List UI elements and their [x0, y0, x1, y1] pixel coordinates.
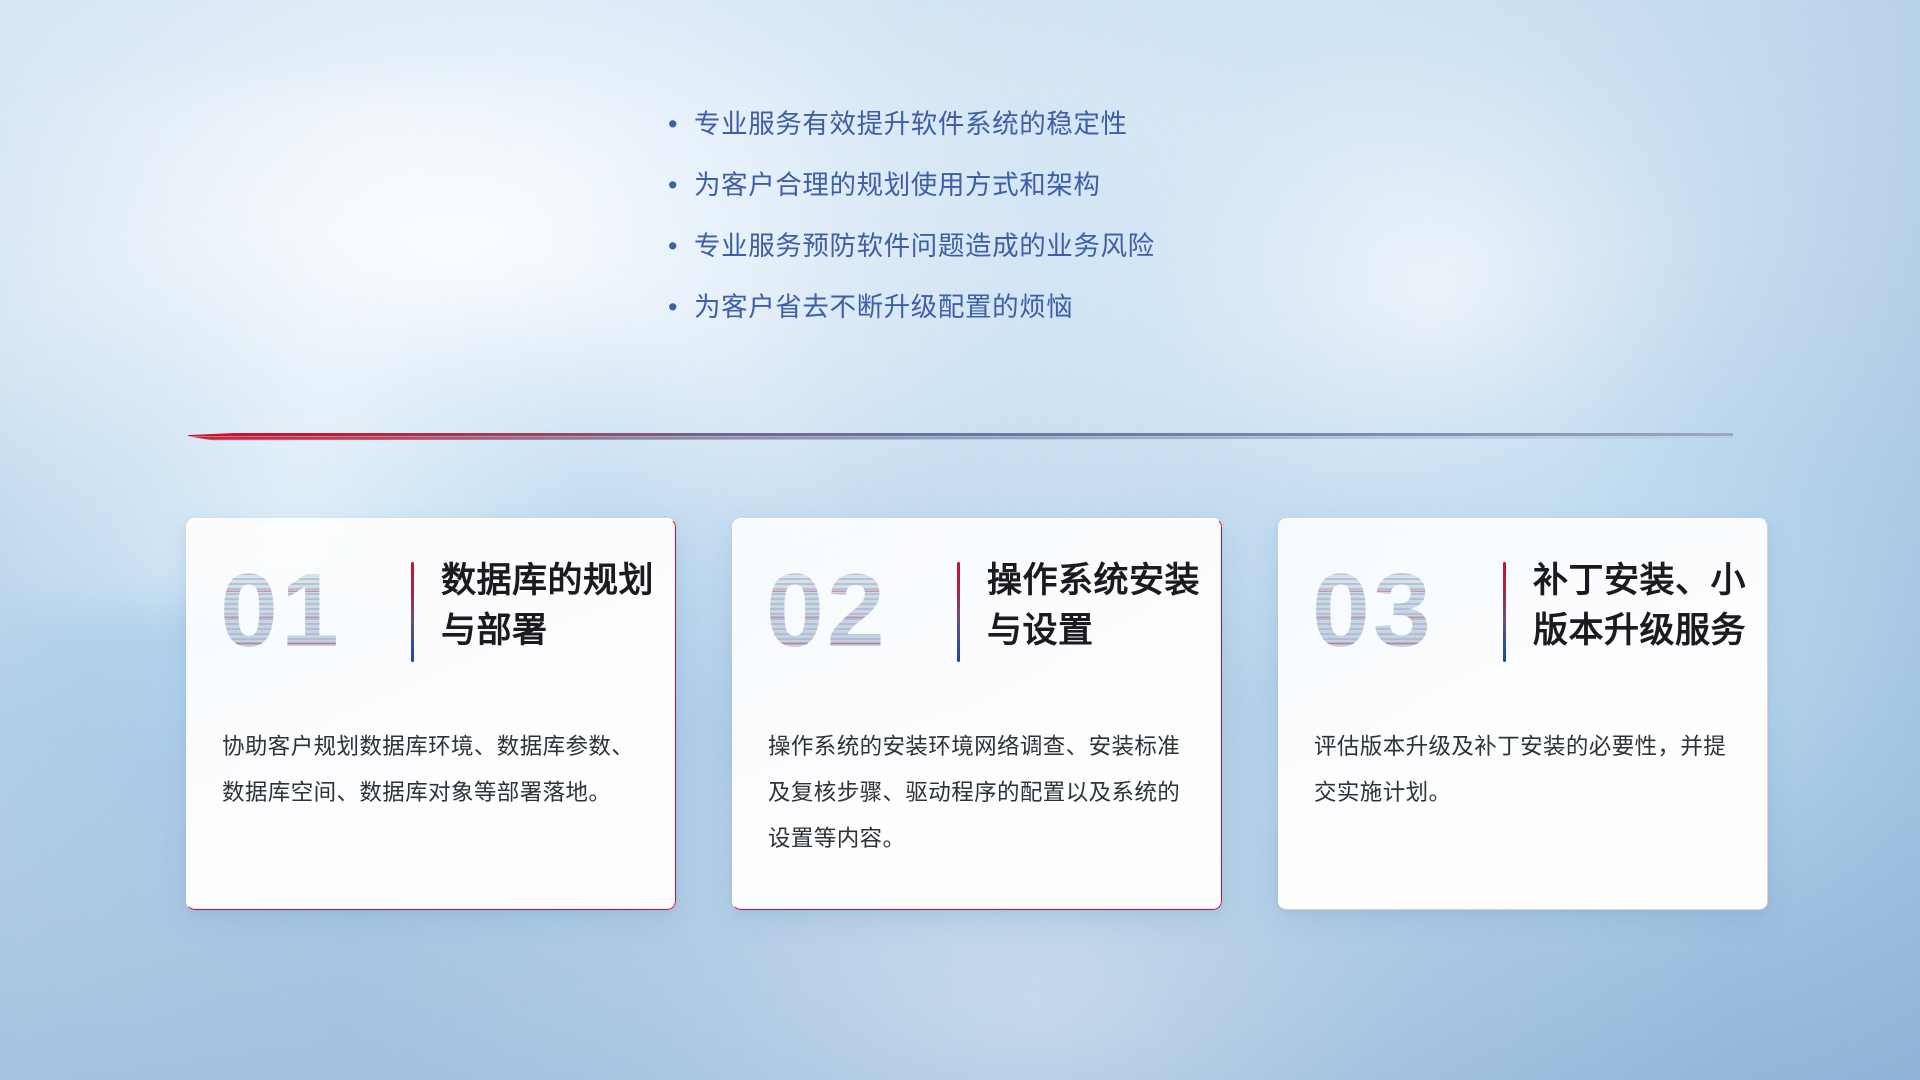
card-number-watermark: 02	[766, 552, 936, 670]
bullet-dot-icon: •	[668, 287, 694, 327]
card-description: 操作系统的安装环境网络调查、安装标准及复核步骤、驱动程序的配置以及系统的设置等内…	[768, 724, 1188, 862]
card-header: 02 02 操作系统安装与设置	[732, 518, 1222, 714]
list-item: • 专业服务预防软件问题造成的业务风险	[668, 226, 1428, 266]
list-item: • 专业服务有效提升软件系统的稳定性	[668, 104, 1428, 144]
divider-line-shadow	[188, 436, 1733, 440]
card-title: 数据库的规划与部署	[441, 556, 654, 656]
card-number-watermark: 01	[220, 552, 390, 670]
card-title: 补丁安装、小版本升级服务	[1533, 556, 1746, 656]
bullet-text: 为客户省去不断升级配置的烦恼	[694, 287, 1073, 327]
bullet-text: 专业服务有效提升软件系统的稳定性	[694, 104, 1128, 144]
card-number-watermark: 03	[1312, 552, 1482, 670]
bullet-dot-icon: •	[668, 165, 694, 205]
card-accent-bar	[1503, 562, 1506, 662]
card-accent-bar	[957, 562, 960, 662]
card-header: 03 03 补丁安装、小版本升级服务	[1278, 518, 1768, 714]
card-header: 01 01 数据库的规划与部署	[186, 518, 676, 714]
section-divider	[188, 430, 1733, 446]
bullet-dot-icon: •	[668, 226, 694, 266]
list-item: • 为客户省去不断升级配置的烦恼	[668, 287, 1428, 327]
bullet-text: 专业服务预防软件问题造成的业务风险	[694, 226, 1155, 266]
service-card-list: 01 01 数据库的规划与部署 协助客户规划数据库环境、数据库参数、数据库空间、…	[186, 518, 1768, 910]
card-title: 操作系统安装与设置	[987, 556, 1200, 656]
card-description: 协助客户规划数据库环境、数据库参数、数据库空间、数据库对象等部署落地。	[222, 724, 642, 816]
benefits-bullet-list: • 专业服务有效提升软件系统的稳定性 • 为客户合理的规划使用方式和架构 • 专…	[668, 104, 1428, 348]
bullet-text: 为客户合理的规划使用方式和架构	[694, 165, 1101, 205]
service-card[interactable]: 03 03 补丁安装、小版本升级服务 评估版本升级及补丁安装的必要性，并提交实施…	[1278, 518, 1768, 910]
card-accent-bar	[411, 562, 414, 662]
divider-line-primary	[188, 433, 1733, 436]
service-card[interactable]: 01 01 数据库的规划与部署 协助客户规划数据库环境、数据库参数、数据库空间、…	[186, 518, 676, 910]
card-description: 评估版本升级及补丁安装的必要性，并提交实施计划。	[1314, 724, 1734, 816]
service-card[interactable]: 02 02 操作系统安装与设置 操作系统的安装环境网络调查、安装标准及复核步骤、…	[732, 518, 1222, 910]
list-item: • 为客户合理的规划使用方式和架构	[668, 165, 1428, 205]
bullet-dot-icon: •	[668, 104, 694, 144]
